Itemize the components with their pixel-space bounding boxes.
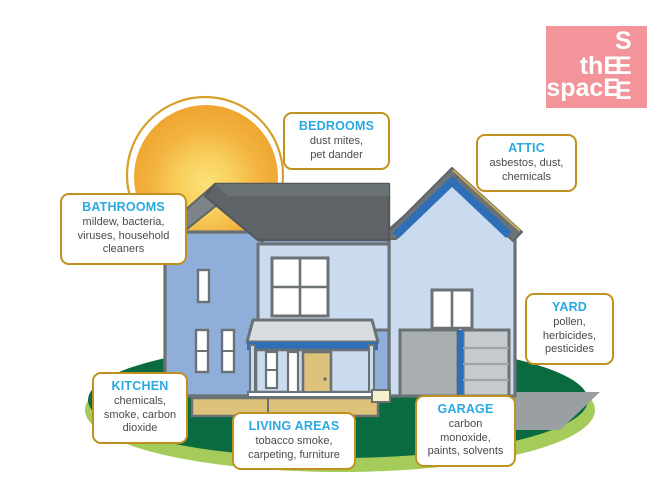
logo-see-letter-1: S <box>615 29 641 54</box>
window-upper-main <box>272 258 328 316</box>
callout-bathrooms-line-2: viruses, household <box>69 230 178 244</box>
deck-step <box>372 390 390 402</box>
callout-bathrooms-body: mildew, bacteria, viruses, household cle… <box>69 216 178 257</box>
main-roof-ridge <box>215 184 389 196</box>
callout-living-areas-body: tobacco smoke, carpeting, furniture <box>241 435 347 462</box>
callout-yard-body: pollen, herbicides, pesticides <box>534 316 605 357</box>
callout-bathrooms-line-1: mildew, bacteria, <box>69 216 178 230</box>
window-porch <box>266 352 277 388</box>
callout-bedrooms-title: BEDROOMS <box>292 119 381 134</box>
callout-kitchen-title: KITCHEN <box>101 379 179 394</box>
callout-yard-title: YARD <box>534 300 605 315</box>
callout-kitchen-line-1: chemicals, <box>101 395 179 409</box>
infographic-canvas: S E E thE spacE BEDROOMS dust mites, pet… <box>0 0 669 489</box>
logo-badge: S E E thE spacE <box>546 26 647 108</box>
callout-yard-line-2: herbicides, <box>534 330 605 344</box>
callout-kitchen-body: chemicals, smoke, carbon dioxide <box>101 395 179 436</box>
logo-space: spacE <box>546 76 620 101</box>
callout-kitchen-line-3: dioxide <box>101 422 179 436</box>
callout-attic-body: asbestos, dust, chemicals <box>485 157 568 184</box>
callout-garage: GARAGE carbon monoxide, paints, solvents <box>415 395 516 467</box>
callout-yard-line-1: pollen, <box>534 316 605 330</box>
callout-living-areas-line-1: tobacco smoke, <box>241 435 347 449</box>
house <box>160 168 522 416</box>
callout-bedrooms-body: dust mites, pet dander <box>292 135 381 162</box>
garage-door-small <box>463 330 509 396</box>
callout-bedrooms: BEDROOMS dust mites, pet dander <box>283 112 390 170</box>
callout-attic: ATTIC asbestos, dust, chemicals <box>476 134 577 192</box>
callout-garage-title: GARAGE <box>424 402 507 417</box>
callout-bathrooms-line-3: cleaners <box>69 243 178 257</box>
porch-rail <box>248 392 376 397</box>
callout-yard-line-3: pesticides <box>534 343 605 357</box>
callout-attic-line-2: chemicals <box>485 171 568 185</box>
callout-bedrooms-line-1: dust mites, <box>292 135 381 149</box>
callout-garage-line-3: paints, solvents <box>424 445 507 459</box>
garage-door-large <box>400 330 458 396</box>
callout-living-areas-line-2: carpeting, furniture <box>241 449 347 463</box>
callout-attic-line-1: asbestos, dust, <box>485 157 568 171</box>
garage-divider <box>457 330 463 396</box>
callout-living-areas-title: LIVING AREAS <box>241 419 347 434</box>
callout-bathrooms-title: BATHROOMS <box>69 200 178 215</box>
callout-living-areas: LIVING AREAS tobacco smoke, carpeting, f… <box>232 412 356 470</box>
callout-kitchen: KITCHEN chemicals, smoke, carbon dioxide <box>92 372 188 444</box>
callout-kitchen-line-2: smoke, carbon <box>101 409 179 423</box>
callout-garage-line-1: carbon <box>424 418 507 432</box>
window-left-lower-b <box>222 330 234 372</box>
callout-garage-line-2: monoxide, <box>424 432 507 446</box>
callout-attic-title: ATTIC <box>485 141 568 156</box>
porch-roof <box>247 320 378 342</box>
callout-yard: YARD pollen, herbicides, pesticides <box>525 293 614 365</box>
callout-garage-body: carbon monoxide, paints, solvents <box>424 418 507 459</box>
callout-bathrooms: BATHROOMS mildew, bacteria, viruses, hou… <box>60 193 187 265</box>
window-left-lower-a <box>196 330 208 372</box>
callout-bedrooms-line-2: pet dander <box>292 149 381 163</box>
window-left-upper <box>198 270 209 302</box>
